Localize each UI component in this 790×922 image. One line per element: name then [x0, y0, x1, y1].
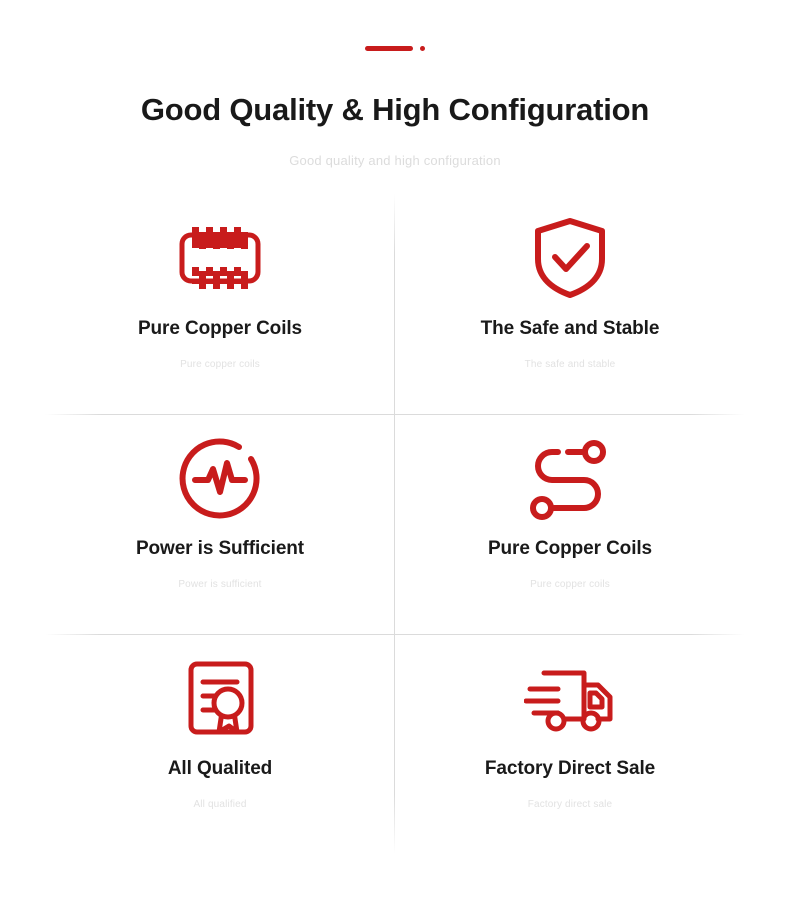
- feature-card-power-sufficient[interactable]: Power is Sufficient Power is sufficient: [45, 414, 395, 634]
- feature-title: Pure Copper Coils: [138, 304, 302, 341]
- page-header: Good Quality & High Configuration Good q…: [0, 0, 790, 171]
- pulse-circle-icon: [177, 432, 263, 524]
- feature-title: Power is Sufficient: [136, 524, 304, 561]
- delivery-truck-icon: [524, 652, 616, 744]
- feature-title: All Qualited: [168, 744, 272, 781]
- feature-highlights-page: Good Quality & High Configuration Good q…: [0, 0, 790, 922]
- title-decoration: [0, 44, 790, 52]
- features-grid-wrapper: Pure Copper Coils Pure copper coils The …: [45, 194, 745, 854]
- certificate-award-icon: [179, 652, 261, 744]
- feature-card-all-qualified[interactable]: All Qualited All qualified: [45, 634, 395, 854]
- feature-subtitle: Pure copper coils: [180, 341, 260, 370]
- red-dot-decoration-icon: [420, 46, 425, 51]
- page-subtitle: Good quality and high configuration: [280, 127, 510, 171]
- feature-subtitle: Pure copper coils: [530, 561, 610, 590]
- feature-subtitle: Factory direct sale: [528, 781, 613, 810]
- feature-card-route[interactable]: Pure Copper Coils Pure copper coils: [395, 414, 745, 634]
- feature-title: The Safe and Stable: [481, 304, 660, 341]
- feature-subtitle: All qualified: [193, 781, 246, 810]
- page-title: Good Quality & High Configuration: [0, 52, 790, 127]
- feature-subtitle: The safe and stable: [525, 341, 616, 370]
- feature-card-safe-stable[interactable]: The Safe and Stable The safe and stable: [395, 194, 745, 414]
- copper-coil-icon: [174, 212, 266, 304]
- feature-title: Factory Direct Sale: [485, 744, 655, 781]
- feature-card-factory-direct[interactable]: Factory Direct Sale Factory direct sale: [395, 634, 745, 854]
- route-path-icon: [526, 432, 614, 524]
- feature-card-copper-coils[interactable]: Pure Copper Coils Pure copper coils: [45, 194, 395, 414]
- shield-check-icon: [529, 212, 611, 304]
- features-grid: Pure Copper Coils Pure copper coils The …: [45, 194, 745, 854]
- feature-title: Pure Copper Coils: [488, 524, 652, 561]
- feature-subtitle: Power is sufficient: [178, 561, 261, 590]
- red-bar-decoration-icon: [365, 46, 413, 51]
